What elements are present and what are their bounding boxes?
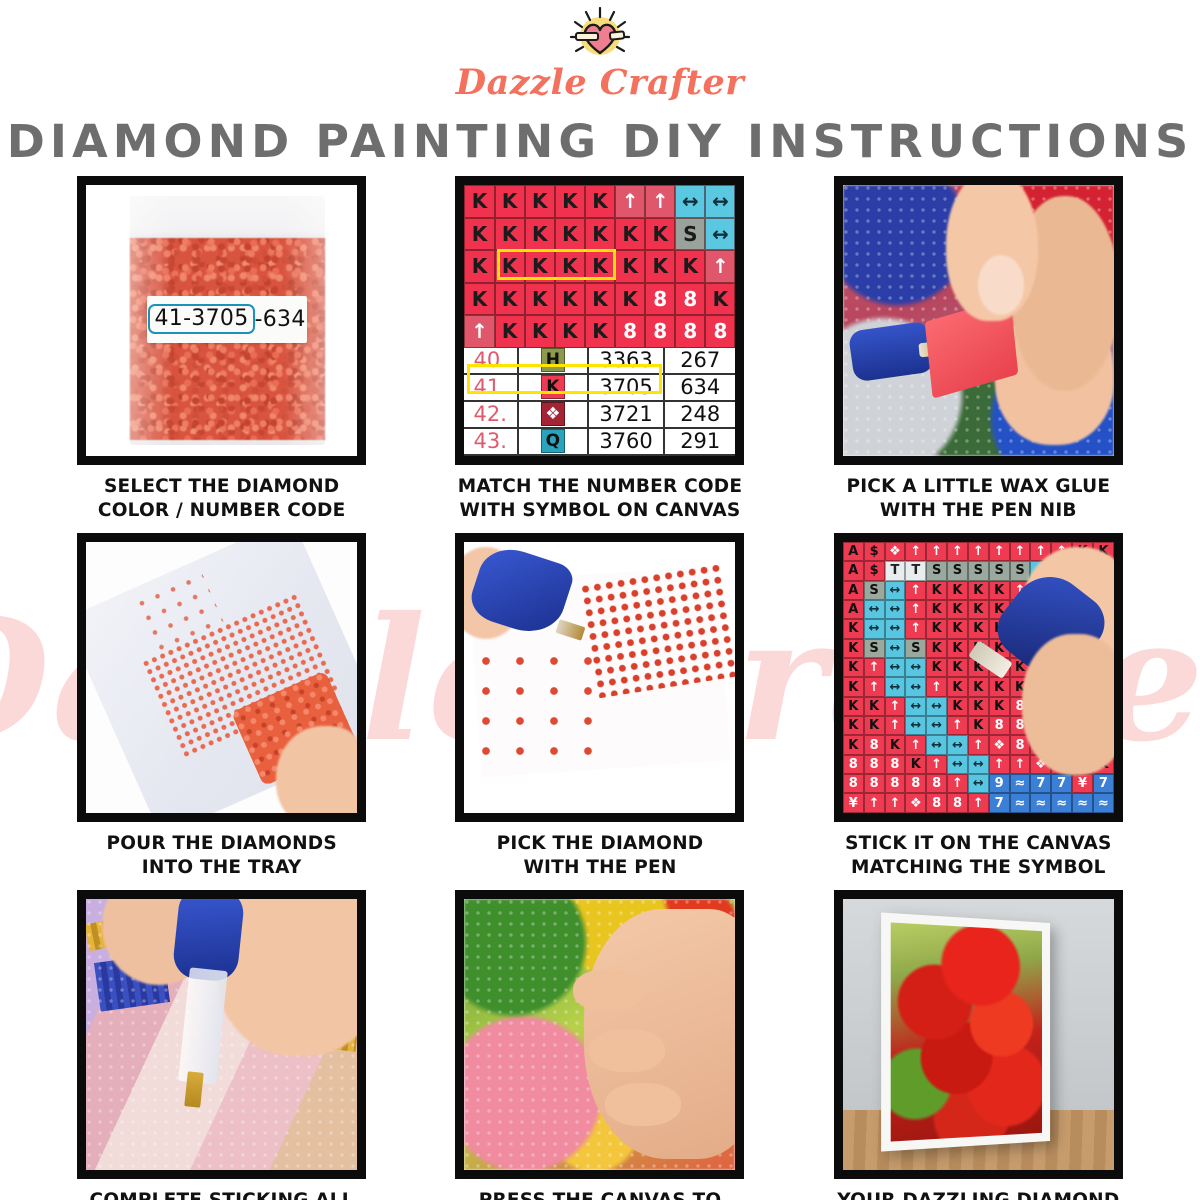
canvas-cell: K <box>926 600 947 619</box>
table-row: 40. H 3363 267 <box>464 348 735 375</box>
canvas-cell: ↔ <box>885 677 906 696</box>
canvas-cell: 8 <box>864 774 885 793</box>
canvas-cell: ↑ <box>905 735 926 754</box>
canvas-cell: ↔ <box>864 600 885 619</box>
poppy-diamond-art <box>891 922 1043 1141</box>
canvas-cell: K <box>885 735 906 754</box>
canvas-cell: 8 <box>926 793 947 812</box>
canvas-cell: ↑ <box>885 697 906 716</box>
canvas-cell: S <box>675 218 705 251</box>
page-header: Dazzle Crafter DIAMOND PAINTING DIY INST… <box>0 0 1200 168</box>
canvas-cell: ❖ <box>989 735 1010 754</box>
canvas-cell: ↑ <box>864 658 885 677</box>
legend-no: 41. <box>464 375 518 400</box>
canvas-cell: ≈ <box>1093 793 1114 812</box>
canvas-cell: K <box>675 250 705 283</box>
step-image-frame-1: 41-3705-634 <box>77 176 366 465</box>
canvas-cell: K <box>585 185 615 218</box>
canvas-cell: K <box>615 250 645 283</box>
canvas-cell: K <box>843 658 864 677</box>
canvas-cell: K <box>464 218 494 251</box>
symbol-swatch: H <box>541 348 565 372</box>
canvas-cell: 8 <box>864 755 885 774</box>
legend-no: 40. <box>464 348 518 373</box>
complete-sticking-photo <box>86 899 357 1170</box>
canvas-cell: K <box>495 250 525 283</box>
table-row: 43. Q 3760 291 <box>464 429 735 456</box>
legend-table: 40. H 3363 267 41. K 3705 634 42. <box>464 348 735 456</box>
canvas-cell: ≈ <box>1051 793 1072 812</box>
canvas-cell: ↔ <box>885 658 906 677</box>
canvas-cell: 8 <box>645 315 675 348</box>
canvas-cell: K <box>926 581 947 600</box>
canvas-cell: 8 <box>675 315 705 348</box>
canvas-cell: 7 <box>1030 774 1051 793</box>
step-caption-7: COMPLETE STICKING ALL COLOR DIAMONDS <box>87 1188 357 1200</box>
canvas-cell: 8 <box>843 755 864 774</box>
step-card-3: PICK A LITTLE WAX GLUE WITH THE PEN NIB <box>817 176 1140 525</box>
canvas-cell: ↑ <box>947 716 968 735</box>
diamond-bag: 41-3705-634 <box>130 196 325 445</box>
heart-with-pen-icon <box>564 6 636 64</box>
canvas-cell: K <box>968 716 989 735</box>
pick-diamond-pen-photo <box>464 542 735 813</box>
canvas-cell: K <box>555 283 585 316</box>
canvas-cell: S <box>947 561 968 580</box>
canvas-cell: $ <box>864 542 885 561</box>
canvas-cell: K <box>843 677 864 696</box>
canvas-cell: 8 <box>947 793 968 812</box>
canvas-cell: ↑ <box>926 542 947 561</box>
canvas-cell: ↔ <box>705 218 735 251</box>
canvas-cell: K <box>947 581 968 600</box>
finger <box>589 1029 665 1072</box>
canvas-cell: ↔ <box>926 697 947 716</box>
bag-label: 41-3705-634 <box>147 296 307 343</box>
canvas-cell: K <box>947 639 968 658</box>
canvas-cell: K <box>555 250 585 283</box>
canvas-cell: 8 <box>615 315 645 348</box>
canvas-cell: ¥ <box>1072 774 1093 793</box>
canvas-cell: K <box>464 185 494 218</box>
canvas-cell: ↔ <box>885 619 906 638</box>
step-caption-1: SELECT THE DIAMOND COLOR / NUMBER CODE <box>95 474 348 525</box>
canvas-cell: K <box>495 315 525 348</box>
step-caption-9: YOUR DAZZLING DIAMOND ART IS FINISHED ! <box>834 1188 1122 1200</box>
step-image-frame-9 <box>834 890 1123 1179</box>
canvas-cell: ↑ <box>926 755 947 774</box>
canvas-cell: ↔ <box>905 716 926 735</box>
legend-symbol: Q <box>519 429 589 454</box>
fingers <box>1022 634 1114 775</box>
legend-no: 42. <box>464 402 518 427</box>
canvas-cell: ↑ <box>885 793 906 812</box>
step-caption-8: PRESS THE CANVAS TO FIX ALL DIAMONDS <box>476 1188 725 1200</box>
step-image-frame-8 <box>455 890 744 1179</box>
canvas-cell: ↑ <box>905 600 926 619</box>
brand-logo: Dazzle Crafter <box>0 6 1200 103</box>
canvas-cell: S <box>989 561 1010 580</box>
instruction-infographic: Dazzle Crafter <box>0 0 1200 1200</box>
canvas-cell: 8 <box>864 735 885 754</box>
canvas-cell: K <box>645 218 675 251</box>
canvas-cell: K <box>495 283 525 316</box>
canvas-cell: K <box>843 619 864 638</box>
legend-symbol: K <box>519 375 589 400</box>
table-row: 41. K 3705 634 <box>464 375 735 402</box>
canvas-cell: ↑ <box>905 619 926 638</box>
canvas-cell: K <box>464 250 494 283</box>
canvas-cell: K <box>843 697 864 716</box>
legend-qty: 248 <box>665 402 735 427</box>
canvas-cell: ↑ <box>968 735 989 754</box>
step-image-frame-4 <box>77 533 366 822</box>
canvas-cell: ↑ <box>1010 542 1031 561</box>
legend-symbol: H <box>519 348 589 373</box>
canvas-cell: K <box>495 185 525 218</box>
canvas-cell: 8 <box>905 774 926 793</box>
symbol-swatch: ❖ <box>541 402 565 426</box>
canvas-cell: K <box>705 283 735 316</box>
canvas-grid-row: K K K K K K K S ↔ <box>464 218 735 251</box>
canvas-cell: ↑ <box>464 315 494 348</box>
canvas-cell: ↑ <box>947 774 968 793</box>
canvas-cell: ↑ <box>905 542 926 561</box>
bag-label-text: 41-3705-634 <box>148 304 305 334</box>
canvas-cell: ↑ <box>926 677 947 696</box>
canvas-cell: 8 <box>989 716 1010 735</box>
step-card-2: K K K K K ↑ ↑ ↔ ↔ K K <box>438 176 761 525</box>
canvas-cell: A <box>843 561 864 580</box>
brand-name: Dazzle Crafter <box>456 62 744 103</box>
canvas-cell: T <box>905 561 926 580</box>
canvas-cell: K <box>968 677 989 696</box>
step-card-6: A$❖↑↑↑↑↑↑↑↑KKA$TTSSSSS↔↔SKAS↔↑KKKK↑↔↔KKA… <box>817 533 1140 882</box>
canvas-cell: K <box>585 218 615 251</box>
chart-number-code-photo: K K K K K ↑ ↑ ↔ ↔ K K <box>464 185 735 456</box>
canvas-grid-row: K K K K K K 8 8 K <box>464 283 735 316</box>
canvas-cell: ↔ <box>905 658 926 677</box>
canvas-cell: ↑ <box>947 542 968 561</box>
wax-glue-pen-photo <box>843 185 1114 456</box>
canvas-cell: K <box>843 716 864 735</box>
canvas-cell: 8 <box>926 774 947 793</box>
canvas-grid-row: K K K K K K K K ↑ <box>464 250 735 283</box>
step-image-frame-2: K K K K K ↑ ↑ ↔ ↔ K K <box>455 176 744 465</box>
canvas-cell: S <box>926 561 947 580</box>
canvas-cell: K <box>926 619 947 638</box>
canvas-cell: K <box>585 250 615 283</box>
canvas-cell: ❖ <box>905 793 926 812</box>
canvas-cell: K <box>968 619 989 638</box>
canvas-cell: K <box>555 185 585 218</box>
canvas-cell: ↔ <box>885 581 906 600</box>
stick-canvas-symbol-photo: A$❖↑↑↑↑↑↑↑↑KKA$TTSSSSS↔↔SKAS↔↑KKKK↑↔↔KKA… <box>843 542 1114 813</box>
canvas-cell: K <box>525 218 555 251</box>
press-canvas-photo <box>464 899 735 1170</box>
canvas-cell: S <box>968 561 989 580</box>
canvas-cell: K <box>585 315 615 348</box>
finger <box>573 969 643 1012</box>
canvas-cell: 8 <box>705 315 735 348</box>
canvas-cell: ↑ <box>885 716 906 735</box>
table-row: 42. ❖ 3721 248 <box>464 402 735 429</box>
legend-code: 3760 <box>589 429 665 454</box>
finished-framed-art-photo <box>843 899 1114 1170</box>
bag-label-code: 41-3705 <box>148 304 254 334</box>
canvas-cell: ≈ <box>1010 793 1031 812</box>
canvas-cell: 8 <box>675 283 705 316</box>
legend-code: 3705 <box>589 375 665 400</box>
canvas-cell: ↑ <box>705 250 735 283</box>
page-title: DIAMOND PAINTING DIY INSTRUCTIONS <box>0 115 1200 168</box>
canvas-cell: K <box>525 283 555 316</box>
canvas-cell: ↔ <box>864 619 885 638</box>
canvas-cell: K <box>615 218 645 251</box>
legend-qty: 634 <box>665 375 735 400</box>
canvas-cell: ↔ <box>947 755 968 774</box>
legend-qty: 291 <box>665 429 735 454</box>
canvas-cell: ↔ <box>926 716 947 735</box>
canvas-cell: S <box>1010 561 1031 580</box>
canvas-cell: K <box>464 283 494 316</box>
canvas-cell: $ <box>864 561 885 580</box>
step-caption-4: POUR THE DIAMONDS INTO THE TRAY <box>103 831 339 882</box>
canvas-cell: A <box>843 542 864 561</box>
canvas-cell: ↑ <box>864 793 885 812</box>
canvas-cell: ↔ <box>885 600 906 619</box>
canvas-cell: ≈ <box>1030 793 1051 812</box>
canvas-cell: S <box>864 581 885 600</box>
canvas-cell: K <box>947 600 968 619</box>
canvas-cell: ↔ <box>905 677 926 696</box>
canvas-cell: ↑ <box>905 581 926 600</box>
symbol-swatch: K <box>541 375 565 399</box>
canvas-cell: K <box>495 218 525 251</box>
step-image-frame-7 <box>77 890 366 1179</box>
canvas-cell: A <box>843 600 864 619</box>
step-card-4: POUR THE DIAMONDS INTO THE TRAY <box>60 533 383 882</box>
step-caption-3: PICK A LITTLE WAX GLUE WITH THE PEN NIB <box>843 474 1113 525</box>
canvas-cell: ↔ <box>968 774 989 793</box>
step-caption-5: PICK THE DIAMOND WITH THE PEN <box>494 831 707 882</box>
canvas-cell: ↑ <box>989 542 1010 561</box>
canvas-cell: K <box>555 315 585 348</box>
legend-no: 43. <box>464 429 518 454</box>
finger <box>605 1083 681 1126</box>
steps-grid: 41-3705-634 SELECT THE DIAMOND COLOR / N… <box>0 168 1200 1200</box>
step-card-9: YOUR DAZZLING DIAMOND ART IS FINISHED ! <box>817 890 1140 1200</box>
canvas-cell: ↑ <box>968 542 989 561</box>
legend-qty: 267 <box>665 348 735 373</box>
canvas-cell: K <box>968 697 989 716</box>
symbol-swatch: Q <box>541 429 565 453</box>
canvas-cell: K <box>555 218 585 251</box>
canvas-cell: S <box>905 639 926 658</box>
canvas-cell: K <box>615 283 645 316</box>
canvas-cell: 8 <box>885 755 906 774</box>
bag-label-qty: -634 <box>255 307 306 332</box>
canvas-grid-row: ↑ K K K K 8 8 8 8 <box>464 315 735 348</box>
step-image-frame-3 <box>834 176 1123 465</box>
pour-diamonds-tray-photo <box>86 542 357 813</box>
canvas-cell: A <box>843 581 864 600</box>
step-image-frame-5 <box>455 533 744 822</box>
canvas-cell: ❖ <box>885 542 906 561</box>
canvas-cell: K <box>843 639 864 658</box>
canvas-cell: K <box>968 581 989 600</box>
canvas-cell: K <box>989 677 1010 696</box>
canvas-cell: ≈ <box>1072 793 1093 812</box>
canvas-cell: K <box>926 658 947 677</box>
canvas-cell: 9 <box>989 774 1010 793</box>
canvas-cell: ↑ <box>645 185 675 218</box>
legend-symbol: ❖ <box>519 402 589 427</box>
canvas-grid-row: ¥↑↑❖88↑7≈≈≈≈≈ <box>843 793 1114 812</box>
step-card-1: 41-3705-634 SELECT THE DIAMOND COLOR / N… <box>60 176 383 525</box>
diamond-bag-photo: 41-3705-634 <box>86 185 357 456</box>
canvas-cell: 7 <box>1093 774 1114 793</box>
canvas-cell: K <box>989 697 1010 716</box>
canvas-symbol-grid: K K K K K ↑ ↑ ↔ ↔ K K <box>464 185 735 348</box>
canvas-cell: K <box>947 658 968 677</box>
canvas-cell: K <box>947 619 968 638</box>
canvas-grid-row: K K K K K ↑ ↑ ↔ ↔ <box>464 185 735 218</box>
canvas-cell: ↑ <box>615 185 645 218</box>
canvas-cell: ↔ <box>885 639 906 658</box>
canvas-cell: ≈ <box>1010 774 1031 793</box>
canvas-cell: K <box>989 581 1010 600</box>
legend-code: 3721 <box>589 402 665 427</box>
canvas-cell: S <box>864 639 885 658</box>
step-image-frame-6: A$❖↑↑↑↑↑↑↑↑KKA$TTSSSSS↔↔SKAS↔↑KKKK↑↔↔KKA… <box>834 533 1123 822</box>
canvas-cell: ↔ <box>926 735 947 754</box>
step-caption-2: MATCH THE NUMBER CODE WITH SYMBOL ON CAN… <box>455 474 745 525</box>
canvas-cell: ↑ <box>1010 755 1031 774</box>
canvas-cell: 7 <box>1051 774 1072 793</box>
loose-diamonds <box>481 656 606 764</box>
step-card-5: PICK THE DIAMOND WITH THE PEN <box>438 533 761 882</box>
canvas-cell: 7 <box>989 793 1010 812</box>
canvas-cell: ↔ <box>968 755 989 774</box>
canvas-cell: K <box>905 755 926 774</box>
canvas-cell: ↑ <box>968 793 989 812</box>
canvas-cell: K <box>864 716 885 735</box>
canvas-cell: K <box>947 697 968 716</box>
canvas-cell: K <box>525 250 555 283</box>
canvas-cell: ¥ <box>843 793 864 812</box>
canvas-cell: ↔ <box>905 697 926 716</box>
canvas-cell: K <box>585 283 615 316</box>
canvas-cell: K <box>947 677 968 696</box>
step-card-7: COMPLETE STICKING ALL COLOR DIAMONDS <box>60 890 383 1200</box>
canvas-cell: K <box>843 735 864 754</box>
canvas-cell: ↔ <box>705 185 735 218</box>
canvas-cell: K <box>525 315 555 348</box>
canvas-cell: K <box>645 250 675 283</box>
canvas-cell: ↔ <box>947 735 968 754</box>
canvas-cell: ↑ <box>989 755 1010 774</box>
canvas-cell: T <box>885 561 906 580</box>
canvas-cell: K <box>968 600 989 619</box>
canvas-cell: K <box>926 639 947 658</box>
canvas-cell: 8 <box>843 774 864 793</box>
canvas-cell: ↔ <box>675 185 705 218</box>
canvas-cell: K <box>864 697 885 716</box>
canvas-cell: 8 <box>645 283 675 316</box>
canvas-cell: 8 <box>885 774 906 793</box>
step-caption-6: STICK IT ON THE CANVAS MATCHING THE SYMB… <box>842 831 1114 882</box>
canvas-grid-row: 88888↑↔9≈77¥7 <box>843 774 1114 793</box>
step-card-8: PRESS THE CANVAS TO FIX ALL DIAMONDS <box>438 890 761 1200</box>
legend-code: 3363 <box>589 348 665 373</box>
canvas-cell: K <box>525 185 555 218</box>
canvas-cell: ↑ <box>864 677 885 696</box>
picture-frame <box>882 912 1051 1151</box>
